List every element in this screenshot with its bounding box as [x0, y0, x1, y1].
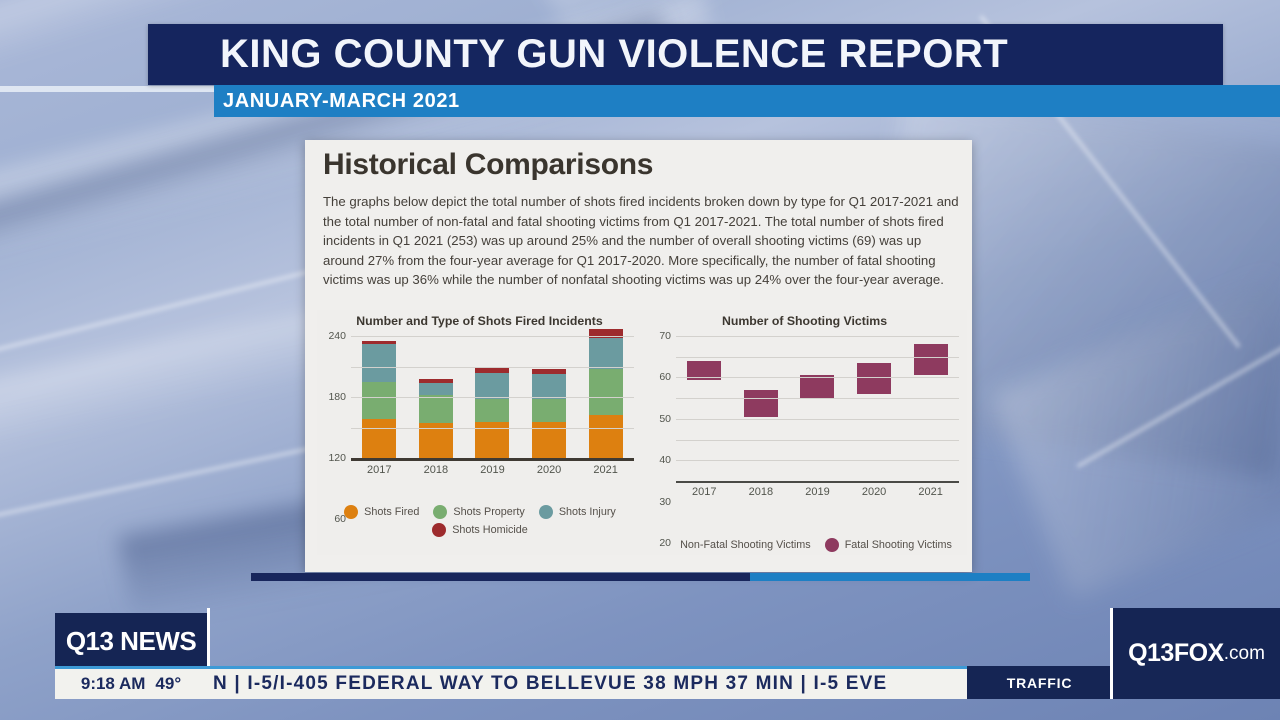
slide-progress-bar[interactable]: [251, 573, 1030, 581]
report-document-panel: Historical Comparisons The graphs below …: [305, 140, 972, 572]
logo-divider: [207, 608, 210, 669]
bar-segment: [744, 417, 778, 481]
clock-time: 9:18 AM: [81, 674, 146, 694]
weather-temperature: 49°: [155, 674, 181, 694]
bar-segment: [475, 373, 509, 398]
stacked-bar: [475, 368, 509, 458]
station-logo: Q13 NEWS: [55, 613, 207, 669]
chart-shooting-victims: Number of Shooting Victims 0102030405060…: [642, 310, 967, 555]
legend-swatch-icon: [539, 505, 553, 519]
gridline: 240: [351, 336, 634, 337]
bar-segment: [362, 419, 396, 458]
ticker-top-rule: [55, 666, 967, 669]
gridline: 60: [676, 357, 959, 358]
brand-website: Q13FOX.com: [1113, 608, 1280, 699]
gridline: 10: [676, 460, 959, 461]
traffic-label-box: TRAFFIC: [967, 666, 1112, 699]
x-axis-label: 2019: [805, 486, 829, 498]
legend-label: Shots Fired: [364, 506, 419, 518]
legend-swatch-icon: [344, 505, 358, 519]
report-subtitle: JANUARY-MARCH 2021: [223, 90, 460, 113]
bar-segment: [857, 363, 891, 394]
gridline: 60: [351, 428, 634, 429]
gridline: 50: [676, 377, 959, 378]
plot-area-right: 010203040506070: [676, 336, 959, 481]
y-axis-tick: 50: [659, 413, 671, 425]
bar-segment: [419, 383, 453, 395]
station-logo-text: Q13 NEWS: [66, 626, 196, 657]
x-axis-label: 2017: [367, 464, 391, 476]
bar-segment: [914, 375, 948, 481]
y-axis-tick: 120: [328, 452, 346, 464]
broadcast-screen: KING COUNTY GUN VIOLENCE REPORT JANUARY-…: [0, 0, 1280, 720]
stacked-bar: [744, 390, 778, 481]
bar-segment: [914, 344, 948, 375]
ticker-text-area: N | I-5/I-405 FEDERAL WAY TO BELLEVUE 38…: [207, 669, 967, 699]
y-axis-tick: 40: [659, 454, 671, 466]
y-axis-tick: 240: [328, 330, 346, 342]
x-axis-labels-right: 20172018201920202021: [676, 486, 959, 498]
gridline: 30: [676, 419, 959, 420]
legend-label: Shots Property: [453, 506, 524, 518]
report-subtitle-bar: JANUARY-MARCH 2021: [214, 85, 1280, 117]
legend-item[interactable]: Shots Fired: [344, 505, 419, 519]
bar-segment: [475, 399, 509, 423]
report-title-bar: KING COUNTY GUN VIOLENCE REPORT: [148, 24, 1223, 85]
x-axis-label: 2020: [862, 486, 886, 498]
stacked-bar: [800, 375, 834, 481]
legend-item[interactable]: Non-Fatal Shooting Victims: [660, 538, 811, 552]
stacked-bar: [362, 341, 396, 458]
x-axis-label: 2021: [918, 486, 942, 498]
gridline: 120: [351, 397, 634, 398]
bar-segment: [362, 382, 396, 419]
stacked-bar: [532, 369, 566, 458]
gridline: 20: [676, 440, 959, 441]
header-accent-strip: [0, 86, 214, 92]
y-axis-tick: 70: [659, 330, 671, 342]
legend-swatch-icon: [432, 523, 446, 537]
bar-segment: [532, 374, 566, 399]
legend-label: Fatal Shooting Victims: [845, 539, 952, 551]
x-axis-label: 2017: [692, 486, 716, 498]
legend-label: Shots Injury: [559, 506, 616, 518]
legend-swatch-icon: [825, 538, 839, 552]
bar-segment: [687, 380, 721, 482]
ticker-message: N | I-5/I-405 FEDERAL WAY TO BELLEVUE 38…: [213, 673, 887, 695]
x-axis-label: 2021: [593, 464, 617, 476]
legend-item[interactable]: Shots Homicide: [432, 523, 528, 537]
y-axis-tick: 60: [659, 371, 671, 383]
section-body-text: The graphs below depict the total number…: [323, 192, 961, 290]
bar-segment: [532, 399, 566, 422]
chart-legend-right: Non-Fatal Shooting VictimsFatal Shooting…: [645, 538, 967, 552]
gridline: 180: [351, 367, 634, 368]
chart-legend-left: Shots FiredShots PropertyShots InjurySho…: [319, 505, 641, 537]
legend-swatch-icon: [433, 505, 447, 519]
gridline: 70: [676, 336, 959, 337]
y-axis-tick: 30: [659, 496, 671, 508]
legend-label: Shots Homicide: [452, 524, 528, 536]
bar-segment: [589, 369, 623, 415]
traffic-label: TRAFFIC: [1007, 675, 1072, 691]
y-axis-tick: 180: [328, 391, 346, 403]
chart-title-right: Number of Shooting Victims: [642, 314, 967, 328]
bar-segment: [800, 375, 834, 398]
stacked-bar: [419, 379, 453, 458]
section-heading: Historical Comparisons: [323, 148, 653, 182]
legend-swatch-icon: [660, 538, 674, 552]
bar-segment: [419, 423, 453, 458]
stacked-bar: [589, 329, 623, 458]
x-axis-left: [351, 458, 634, 461]
slide-progress-fill: [251, 573, 750, 581]
report-title: KING COUNTY GUN VIOLENCE REPORT: [220, 32, 1008, 77]
brand-name: Q13FOX: [1128, 639, 1224, 668]
bar-segment: [419, 395, 453, 423]
bar-segment: [589, 338, 623, 369]
clock-and-weather: 9:18 AM 49°: [55, 669, 207, 699]
brand-divider: [1110, 608, 1113, 699]
x-axis-label: 2018: [749, 486, 773, 498]
legend-item[interactable]: Shots Injury: [539, 505, 616, 519]
chart-title-left: Number and Type of Shots Fired Incidents: [317, 314, 642, 328]
bar-segment: [589, 415, 623, 458]
x-axis-labels-left: 20172018201920202021: [351, 464, 634, 476]
brand-tld: .com: [1224, 643, 1265, 665]
legend-label: Non-Fatal Shooting Victims: [680, 539, 811, 551]
stacked-bar: [857, 363, 891, 481]
bar-group-right: [676, 336, 959, 481]
gridline: 40: [676, 398, 959, 399]
x-axis-right: [676, 481, 959, 483]
bar-segment: [744, 390, 778, 417]
legend-item[interactable]: Fatal Shooting Victims: [825, 538, 952, 552]
x-axis-label: 2018: [424, 464, 448, 476]
stacked-bar: [687, 361, 721, 481]
plot-area-left: 060120180240: [351, 336, 634, 458]
legend-item[interactable]: Shots Property: [433, 505, 524, 519]
x-axis-label: 2020: [537, 464, 561, 476]
bar-segment: [362, 344, 396, 383]
bar-segment: [857, 394, 891, 481]
x-axis-label: 2019: [480, 464, 504, 476]
